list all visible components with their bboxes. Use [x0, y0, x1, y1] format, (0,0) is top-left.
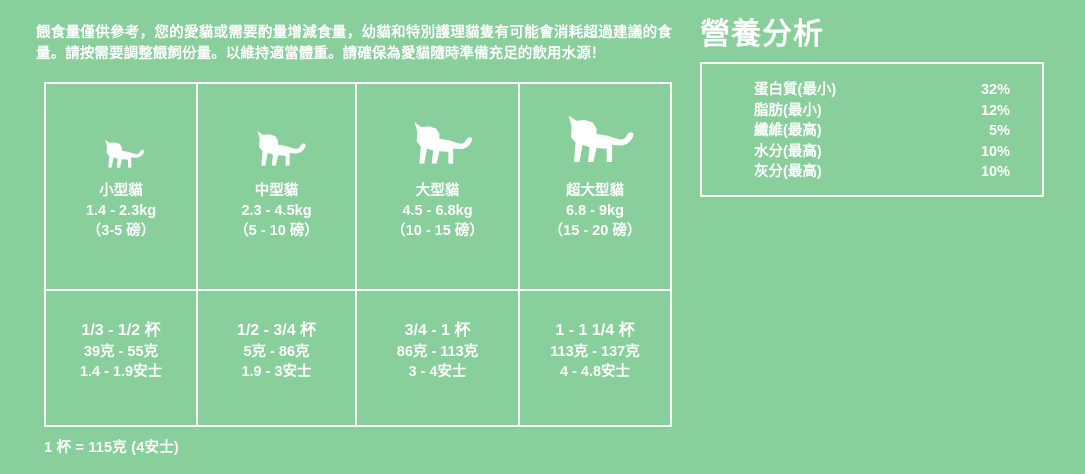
amount-ounces: 4 - 4.8安士	[560, 362, 630, 382]
amount-ounces: 1.4 - 1.9安士	[80, 362, 162, 382]
size-weight-lb: （5 - 10 磅）	[234, 221, 319, 241]
table-cell-size-small: 小型貓 1.4 - 2.3kg （3-5 磅）	[46, 84, 198, 289]
amount-ounces: 1.9 - 3安士	[241, 362, 311, 382]
table-cell-amount-large: 3/4 - 1 杯 86克 - 113克 3 - 4安士	[357, 291, 520, 425]
size-weight-kg: 6.8 - 9kg	[566, 201, 624, 221]
table-cell-amount-medium: 1/2 - 3/4 杯 5克 - 86克 1.9 - 3安士	[198, 291, 357, 425]
amount-ounces: 3 - 4安士	[408, 362, 466, 382]
table-cell-amount-xlarge: 1 - 1 1/4 杯 113克 - 137克 4 - 4.8安士	[520, 291, 670, 425]
nutrition-analysis-list: 蛋白質(最小) 32% 脂肪(最小) 12% 纖維(最高) 5% 水分(最高) …	[754, 80, 1010, 183]
amount-cups: 1 - 1 1/4 杯	[555, 320, 634, 342]
nutrition-value: 12%	[981, 101, 1010, 122]
cup-conversion-footnote: 1 杯 = 115克 (4安士)	[44, 436, 179, 457]
nutrition-value: 5%	[989, 121, 1010, 142]
size-label: 小型貓	[99, 182, 143, 201]
nutrition-row-fiber: 纖維(最高) 5%	[754, 121, 1010, 142]
amount-cups: 3/4 - 1 杯	[405, 320, 471, 342]
feeding-amount-table: 小型貓 1.4 - 2.3kg （3-5 磅） 中型貓 2.3 - 4.5kg …	[44, 82, 672, 427]
size-weight-kg: 1.4 - 2.3kg	[86, 201, 156, 221]
nutrition-analysis-title: 營養分析	[700, 17, 824, 53]
nutrition-analysis-box: 蛋白質(最小) 32% 脂肪(最小) 12% 纖維(最高) 5% 水分(最高) …	[700, 62, 1044, 197]
nutrition-value: 10%	[981, 142, 1010, 163]
size-label: 大型貓	[416, 182, 460, 201]
table-row-feeding-amounts: 1/3 - 1/2 杯 39克 - 55克 1.4 - 1.9安士 1/2 - …	[46, 289, 670, 425]
size-weight-lb: （10 - 15 磅）	[391, 221, 484, 241]
table-cell-size-medium: 中型貓 2.3 - 4.5kg （5 - 10 磅）	[198, 84, 357, 289]
size-label: 超大型貓	[566, 182, 624, 201]
nutrition-value: 10%	[981, 162, 1010, 183]
feeding-guide-section: 餵食量僅供參考，您的愛貓或需要酌量增減食量，幼貓和特別護理貓隻有可能會消耗超過建…	[0, 0, 690, 474]
table-cell-size-xlarge: 超大型貓 6.8 - 9kg （15 - 20 磅）	[520, 84, 670, 289]
nutrition-row-ash: 灰分(最高) 10%	[754, 162, 1010, 183]
size-weight-kg: 2.3 - 4.5kg	[241, 201, 311, 221]
amount-cups: 1/3 - 1/2 杯	[81, 320, 160, 342]
nutrition-row-protein: 蛋白質(最小) 32%	[754, 80, 1010, 101]
nutrition-label: 水分(最高)	[754, 142, 822, 163]
table-cell-size-large: 大型貓 4.5 - 6.8kg （10 - 15 磅）	[357, 84, 520, 289]
nutrition-row-moisture: 水分(最高) 10%	[754, 142, 1010, 163]
nutrition-label: 纖維(最高)	[754, 121, 822, 142]
nutrition-label: 脂肪(最小)	[754, 101, 822, 122]
amount-grams: 39克 - 55克	[84, 342, 158, 362]
nutrition-label: 蛋白質(最小)	[754, 80, 836, 101]
cat-silhouette-medium-icon	[242, 96, 312, 176]
size-weight-lb: （3-5 磅）	[87, 221, 156, 241]
amount-grams: 113克 - 137克	[550, 342, 639, 362]
feeding-guide-intro-text: 餵食量僅供參考，您的愛貓或需要酌量增減食量，幼貓和特別護理貓隻有可能會消耗超過建…	[36, 23, 672, 65]
cat-silhouette-small-icon	[93, 96, 149, 176]
nutrition-value: 32%	[981, 80, 1010, 101]
cat-silhouette-large-icon	[396, 96, 480, 176]
nutrition-analysis-section: 營養分析 蛋白質(最小) 32% 脂肪(最小) 12% 纖維(最高) 5% 水分…	[698, 0, 1085, 474]
size-label: 中型貓	[255, 182, 299, 201]
nutrition-row-fat: 脂肪(最小) 12%	[754, 101, 1010, 122]
amount-cups: 1/2 - 3/4 杯	[237, 320, 316, 342]
size-weight-kg: 4.5 - 6.8kg	[402, 201, 472, 221]
amount-grams: 86克 - 113克	[397, 342, 478, 362]
cat-silhouette-xlarge-icon	[547, 96, 643, 176]
size-weight-lb: （15 - 20 磅）	[549, 221, 642, 241]
amount-grams: 5克 - 86克	[243, 342, 309, 362]
table-cell-amount-small: 1/3 - 1/2 杯 39克 - 55克 1.4 - 1.9安士	[46, 291, 198, 425]
nutrition-label: 灰分(最高)	[754, 162, 822, 183]
table-row-cat-sizes: 小型貓 1.4 - 2.3kg （3-5 磅） 中型貓 2.3 - 4.5kg …	[46, 84, 670, 289]
